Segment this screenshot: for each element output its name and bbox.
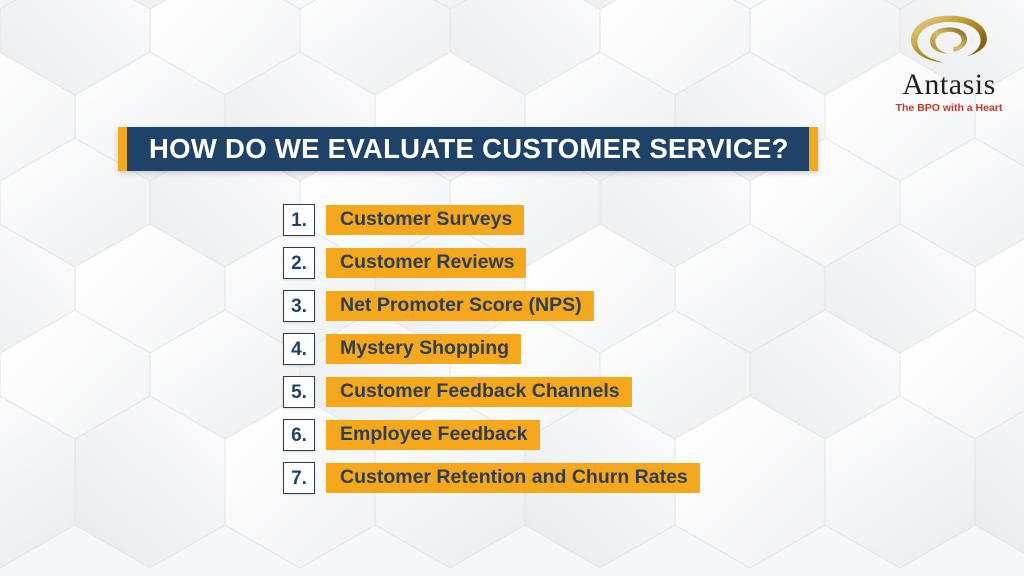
company-logo: Antasis The BPO with a Heart [888, 12, 1010, 114]
list-item-number-box: 3. [283, 290, 315, 322]
list-item-label: Customer Feedback Channels [340, 382, 620, 402]
list-item-highlight-bar: Employee Feedback [326, 420, 540, 450]
banner-right-accent [809, 127, 818, 171]
list-item: 5. Customer Feedback Channels [283, 376, 700, 408]
banner-left-accent [118, 127, 127, 171]
list-item-label: Mystery Shopping [340, 339, 509, 359]
slide-canvas: HOW DO WE EVALUATE CUSTOMER SERVICE? 1. … [0, 0, 1024, 576]
list-item-label: Net Promoter Score (NPS) [340, 296, 582, 316]
list-item: 1. Customer Surveys [283, 204, 700, 236]
list-item-number: 6. [291, 426, 307, 445]
list-item-number-box: 4. [283, 333, 315, 365]
logo-wordmark: Antasis [888, 70, 1010, 100]
list-item-number-box: 1. [283, 204, 315, 236]
list-item-number: 3. [291, 297, 307, 316]
list-item-highlight-bar: Customer Surveys [326, 205, 524, 235]
page-title: HOW DO WE EVALUATE CUSTOMER SERVICE? [149, 135, 789, 163]
banner-body: HOW DO WE EVALUATE CUSTOMER SERVICE? [127, 127, 809, 171]
list-item-label: Customer Retention and Churn Rates [340, 468, 688, 488]
list-item-highlight-bar: Customer Retention and Churn Rates [326, 463, 700, 493]
list-item: 3. Net Promoter Score (NPS) [283, 290, 700, 322]
list-item-number-box: 7. [283, 462, 315, 494]
list-item: 6. Employee Feedback [283, 419, 700, 451]
title-banner: HOW DO WE EVALUATE CUSTOMER SERVICE? [118, 127, 818, 171]
list-item-label: Employee Feedback [340, 425, 528, 445]
list-item-label: Customer Surveys [340, 210, 512, 230]
list-item-number-box: 6. [283, 419, 315, 451]
gold-spiral-icon [903, 12, 995, 68]
list-item: 7. Customer Retention and Churn Rates [283, 462, 700, 494]
list-item: 4. Mystery Shopping [283, 333, 700, 365]
list-item-highlight-bar: Customer Feedback Channels [326, 377, 632, 407]
list-item-number-box: 2. [283, 247, 315, 279]
evaluation-methods-list: 1. Customer Surveys 2. Customer Reviews … [283, 204, 700, 505]
list-item-label: Customer Reviews [340, 253, 514, 273]
list-item-number-box: 5. [283, 376, 315, 408]
list-item: 2. Customer Reviews [283, 247, 700, 279]
list-item-number: 5. [291, 383, 307, 402]
list-item-highlight-bar: Mystery Shopping [326, 334, 521, 364]
list-item-number: 4. [291, 340, 307, 359]
list-item-number: 1. [291, 211, 307, 230]
list-item-number: 2. [291, 254, 307, 273]
logo-tagline: The BPO with a Heart [888, 103, 1010, 114]
list-item-highlight-bar: Net Promoter Score (NPS) [326, 291, 594, 321]
list-item-number: 7. [291, 469, 307, 488]
list-item-highlight-bar: Customer Reviews [326, 248, 526, 278]
